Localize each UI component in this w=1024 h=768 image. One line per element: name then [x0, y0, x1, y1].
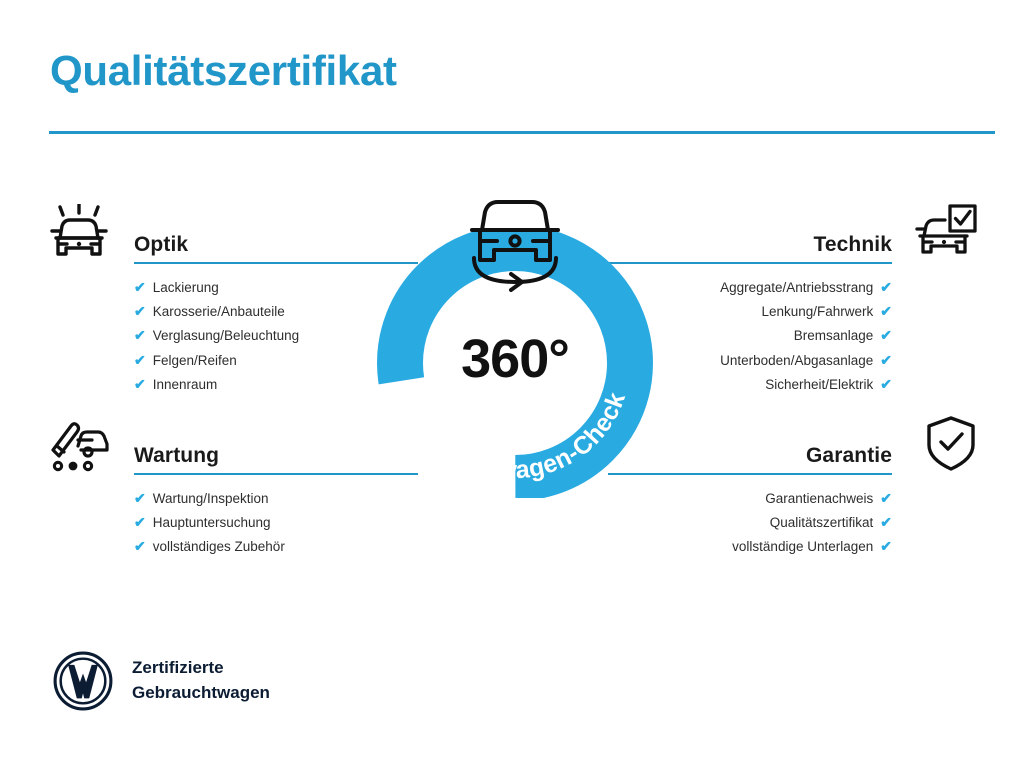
list-item-label: Innenraum	[153, 373, 218, 397]
list-item: ✔Hauptuntersuchung	[48, 511, 418, 535]
vw-logo-text: Zertifizierte Gebrauchtwagen	[132, 656, 270, 705]
list-item: ✔Karosserie/Anbauteile	[48, 300, 418, 324]
check-icon: ✔	[134, 491, 146, 505]
list-item-label: Felgen/Reifen	[153, 349, 237, 373]
checklist-optik: ✔Lackierung ✔Karosserie/Anbauteile ✔Verg…	[48, 276, 418, 397]
page-title: Qualitätszertifikat	[50, 48, 397, 94]
list-item: vollständige Unterlagen✔	[608, 535, 978, 559]
list-item-label: Hauptuntersuchung	[153, 511, 271, 535]
check-icon: ✔	[880, 328, 892, 342]
car-rotation-icon	[454, 186, 576, 294]
list-item: Unterboden/Abgasanlage✔	[608, 349, 978, 373]
list-item: Qualitätszertifikat✔	[608, 511, 978, 535]
check-icon: ✔	[880, 304, 892, 318]
list-item-label: Sicherheit/Elektrik	[765, 373, 873, 397]
checklist-technik: Aggregate/Antriebsstrang✔ Lenkung/Fahrwe…	[608, 276, 978, 397]
list-item-label: Aggregate/Antriebsstrang	[720, 276, 873, 300]
check-icon: ✔	[134, 377, 146, 391]
list-item: ✔Innenraum	[48, 373, 418, 397]
list-item: Lenkung/Fahrwerk✔	[608, 300, 978, 324]
check-icon: ✔	[134, 353, 146, 367]
degrees-label: 360°	[370, 328, 660, 390]
check-icon: ✔	[134, 539, 146, 553]
section-header: Wartung	[48, 413, 418, 475]
check-icon: ✔	[880, 515, 892, 529]
title-divider	[49, 131, 995, 134]
vw-logo	[52, 650, 114, 712]
list-item: ✔Felgen/Reifen	[48, 349, 418, 373]
list-item-label: Verglasung/Beleuchtung	[153, 324, 299, 348]
vw-logo-line1: Zertifizierte	[132, 656, 270, 681]
car-shine-icon	[48, 202, 124, 264]
car-checkbox-icon	[902, 202, 978, 264]
section-header: Optik	[48, 202, 418, 264]
section-garantie: Garantie Garantienachweis✔ Qualitätszert…	[608, 413, 978, 560]
list-item-label: Garantienachweis	[765, 487, 873, 511]
list-item-label: Unterboden/Abgasanlage	[720, 349, 873, 373]
check-icon: ✔	[880, 280, 892, 294]
section-optik: Optik ✔Lackierung ✔Karosserie/Anbauteile…	[48, 202, 418, 397]
section-header: Garantie	[608, 413, 978, 475]
360-check-graphic: Gebrauchtwagen-Check 360°	[370, 186, 660, 498]
list-item: ✔Lackierung	[48, 276, 418, 300]
shield-check-icon	[902, 413, 978, 475]
checklist-garantie: Garantienachweis✔ Qualitätszertifikat✔ v…	[608, 487, 978, 560]
list-item: ✔Verglasung/Beleuchtung	[48, 324, 418, 348]
list-item: ✔Wartung/Inspektion	[48, 487, 418, 511]
section-technik: Technik Aggregate/Antriebsstrang✔ Lenkun…	[608, 202, 978, 397]
list-item: Aggregate/Antriebsstrang✔	[608, 276, 978, 300]
list-item-label: Karosserie/Anbauteile	[153, 300, 285, 324]
list-item-label: Bremsanlage	[794, 324, 874, 348]
list-item: Bremsanlage✔	[608, 324, 978, 348]
check-icon: ✔	[880, 539, 892, 553]
list-item: ✔vollständiges Zubehör	[48, 535, 418, 559]
list-item: Garantienachweis✔	[608, 487, 978, 511]
checklist-wartung: ✔Wartung/Inspektion ✔Hauptuntersuchung ✔…	[48, 487, 418, 560]
check-icon: ✔	[134, 280, 146, 294]
check-icon: ✔	[134, 328, 146, 342]
list-item-label: Lackierung	[153, 276, 219, 300]
list-item-label: Wartung/Inspektion	[153, 487, 269, 511]
section-wartung: Wartung ✔Wartung/Inspektion ✔Hauptunters…	[48, 413, 418, 560]
check-icon: ✔	[880, 353, 892, 367]
vw-certified-logo: Zertifizierte Gebrauchtwagen	[52, 650, 270, 712]
check-icon: ✔	[134, 515, 146, 529]
car-service-tool-icon	[48, 413, 124, 475]
check-icon: ✔	[880, 377, 892, 391]
check-icon: ✔	[880, 491, 892, 505]
list-item: Sicherheit/Elektrik✔	[608, 373, 978, 397]
list-item-label: vollständige Unterlagen	[732, 535, 873, 559]
list-item-label: Qualitätszertifikat	[770, 511, 874, 535]
check-icon: ✔	[134, 304, 146, 318]
list-item-label: vollständiges Zubehör	[153, 535, 285, 559]
list-item-label: Lenkung/Fahrwerk	[761, 300, 873, 324]
vw-logo-line2: Gebrauchtwagen	[132, 681, 270, 706]
section-header: Technik	[608, 202, 978, 264]
